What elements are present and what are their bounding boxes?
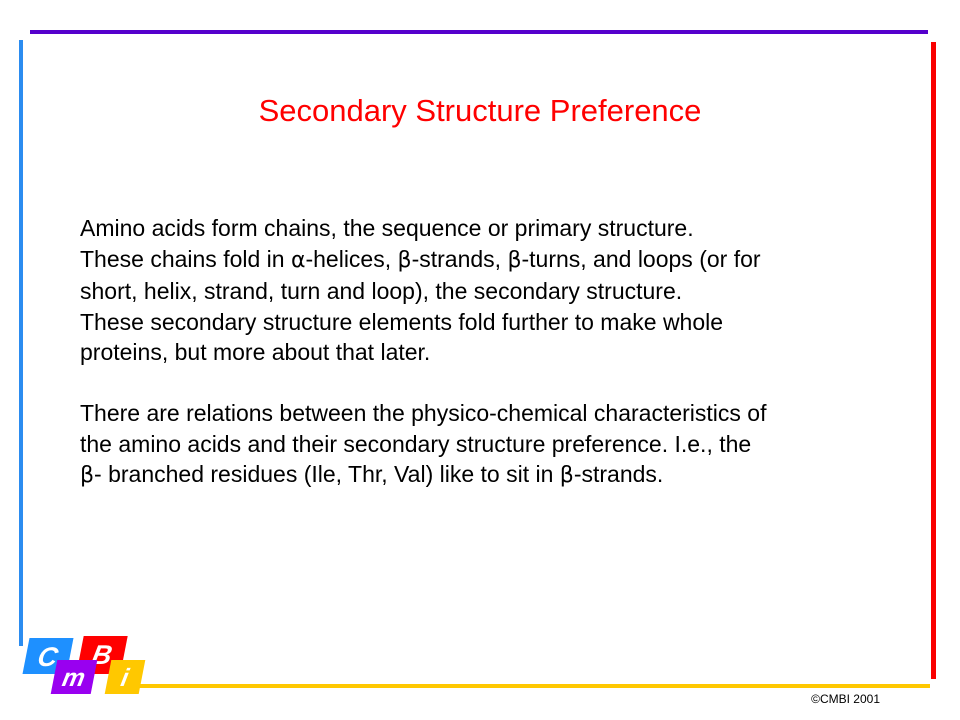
border-rule-bottom bbox=[137, 684, 930, 688]
border-rule-top bbox=[30, 30, 928, 34]
alpha-symbol: α bbox=[291, 248, 306, 273]
paragraph-1-line-2: These chains fold in α-helices, β-strand… bbox=[80, 244, 900, 277]
beta-symbol: β bbox=[80, 463, 94, 488]
text-fragment: -turns, and loops (or for bbox=[521, 246, 760, 272]
beta-symbol: β bbox=[560, 463, 574, 488]
text-fragment: -helices, bbox=[305, 246, 397, 272]
border-rule-right bbox=[931, 42, 936, 679]
paragraph-1-line-1: Amino acids form chains, the sequence or… bbox=[80, 213, 900, 244]
paragraph-1-line-5: proteins, but more about that later. bbox=[80, 337, 900, 368]
beta-symbol: β bbox=[398, 248, 412, 273]
border-rule-left bbox=[19, 40, 23, 646]
paragraph-1-line-3: short, helix, strand, turn and loop), th… bbox=[80, 276, 900, 307]
beta-symbol: β bbox=[507, 248, 521, 273]
text-fragment: -strands, bbox=[412, 246, 508, 272]
text-fragment: - branched residues (Ile, Thr, Val) like… bbox=[94, 461, 560, 487]
paragraph-1: Amino acids form chains, the sequence or… bbox=[80, 213, 900, 368]
cmbi-logo: C B m i bbox=[24, 636, 144, 702]
paragraph-1-line-4: These secondary structure elements fold … bbox=[80, 307, 900, 338]
slide-body: Amino acids form chains, the sequence or… bbox=[80, 213, 900, 492]
paragraph-2-line-2: the amino acids and their secondary stru… bbox=[80, 429, 900, 460]
slide-canvas: Secondary Structure Preference Amino aci… bbox=[0, 0, 960, 720]
text-fragment: -strands. bbox=[574, 461, 663, 487]
logo-tile-m: m bbox=[51, 660, 98, 694]
paragraph-2-line-1: There are relations between the physico-… bbox=[80, 398, 900, 429]
paragraph-2-line-3: β- branched residues (Ile, Thr, Val) lik… bbox=[80, 459, 900, 492]
copyright-notice: ©CMBI 2001 bbox=[700, 692, 880, 706]
paragraph-2: There are relations between the physico-… bbox=[80, 398, 900, 492]
slide-title: Secondary Structure Preference bbox=[0, 93, 960, 129]
text-fragment: These chains fold in bbox=[80, 246, 291, 272]
logo-tile-i: i bbox=[105, 660, 146, 694]
